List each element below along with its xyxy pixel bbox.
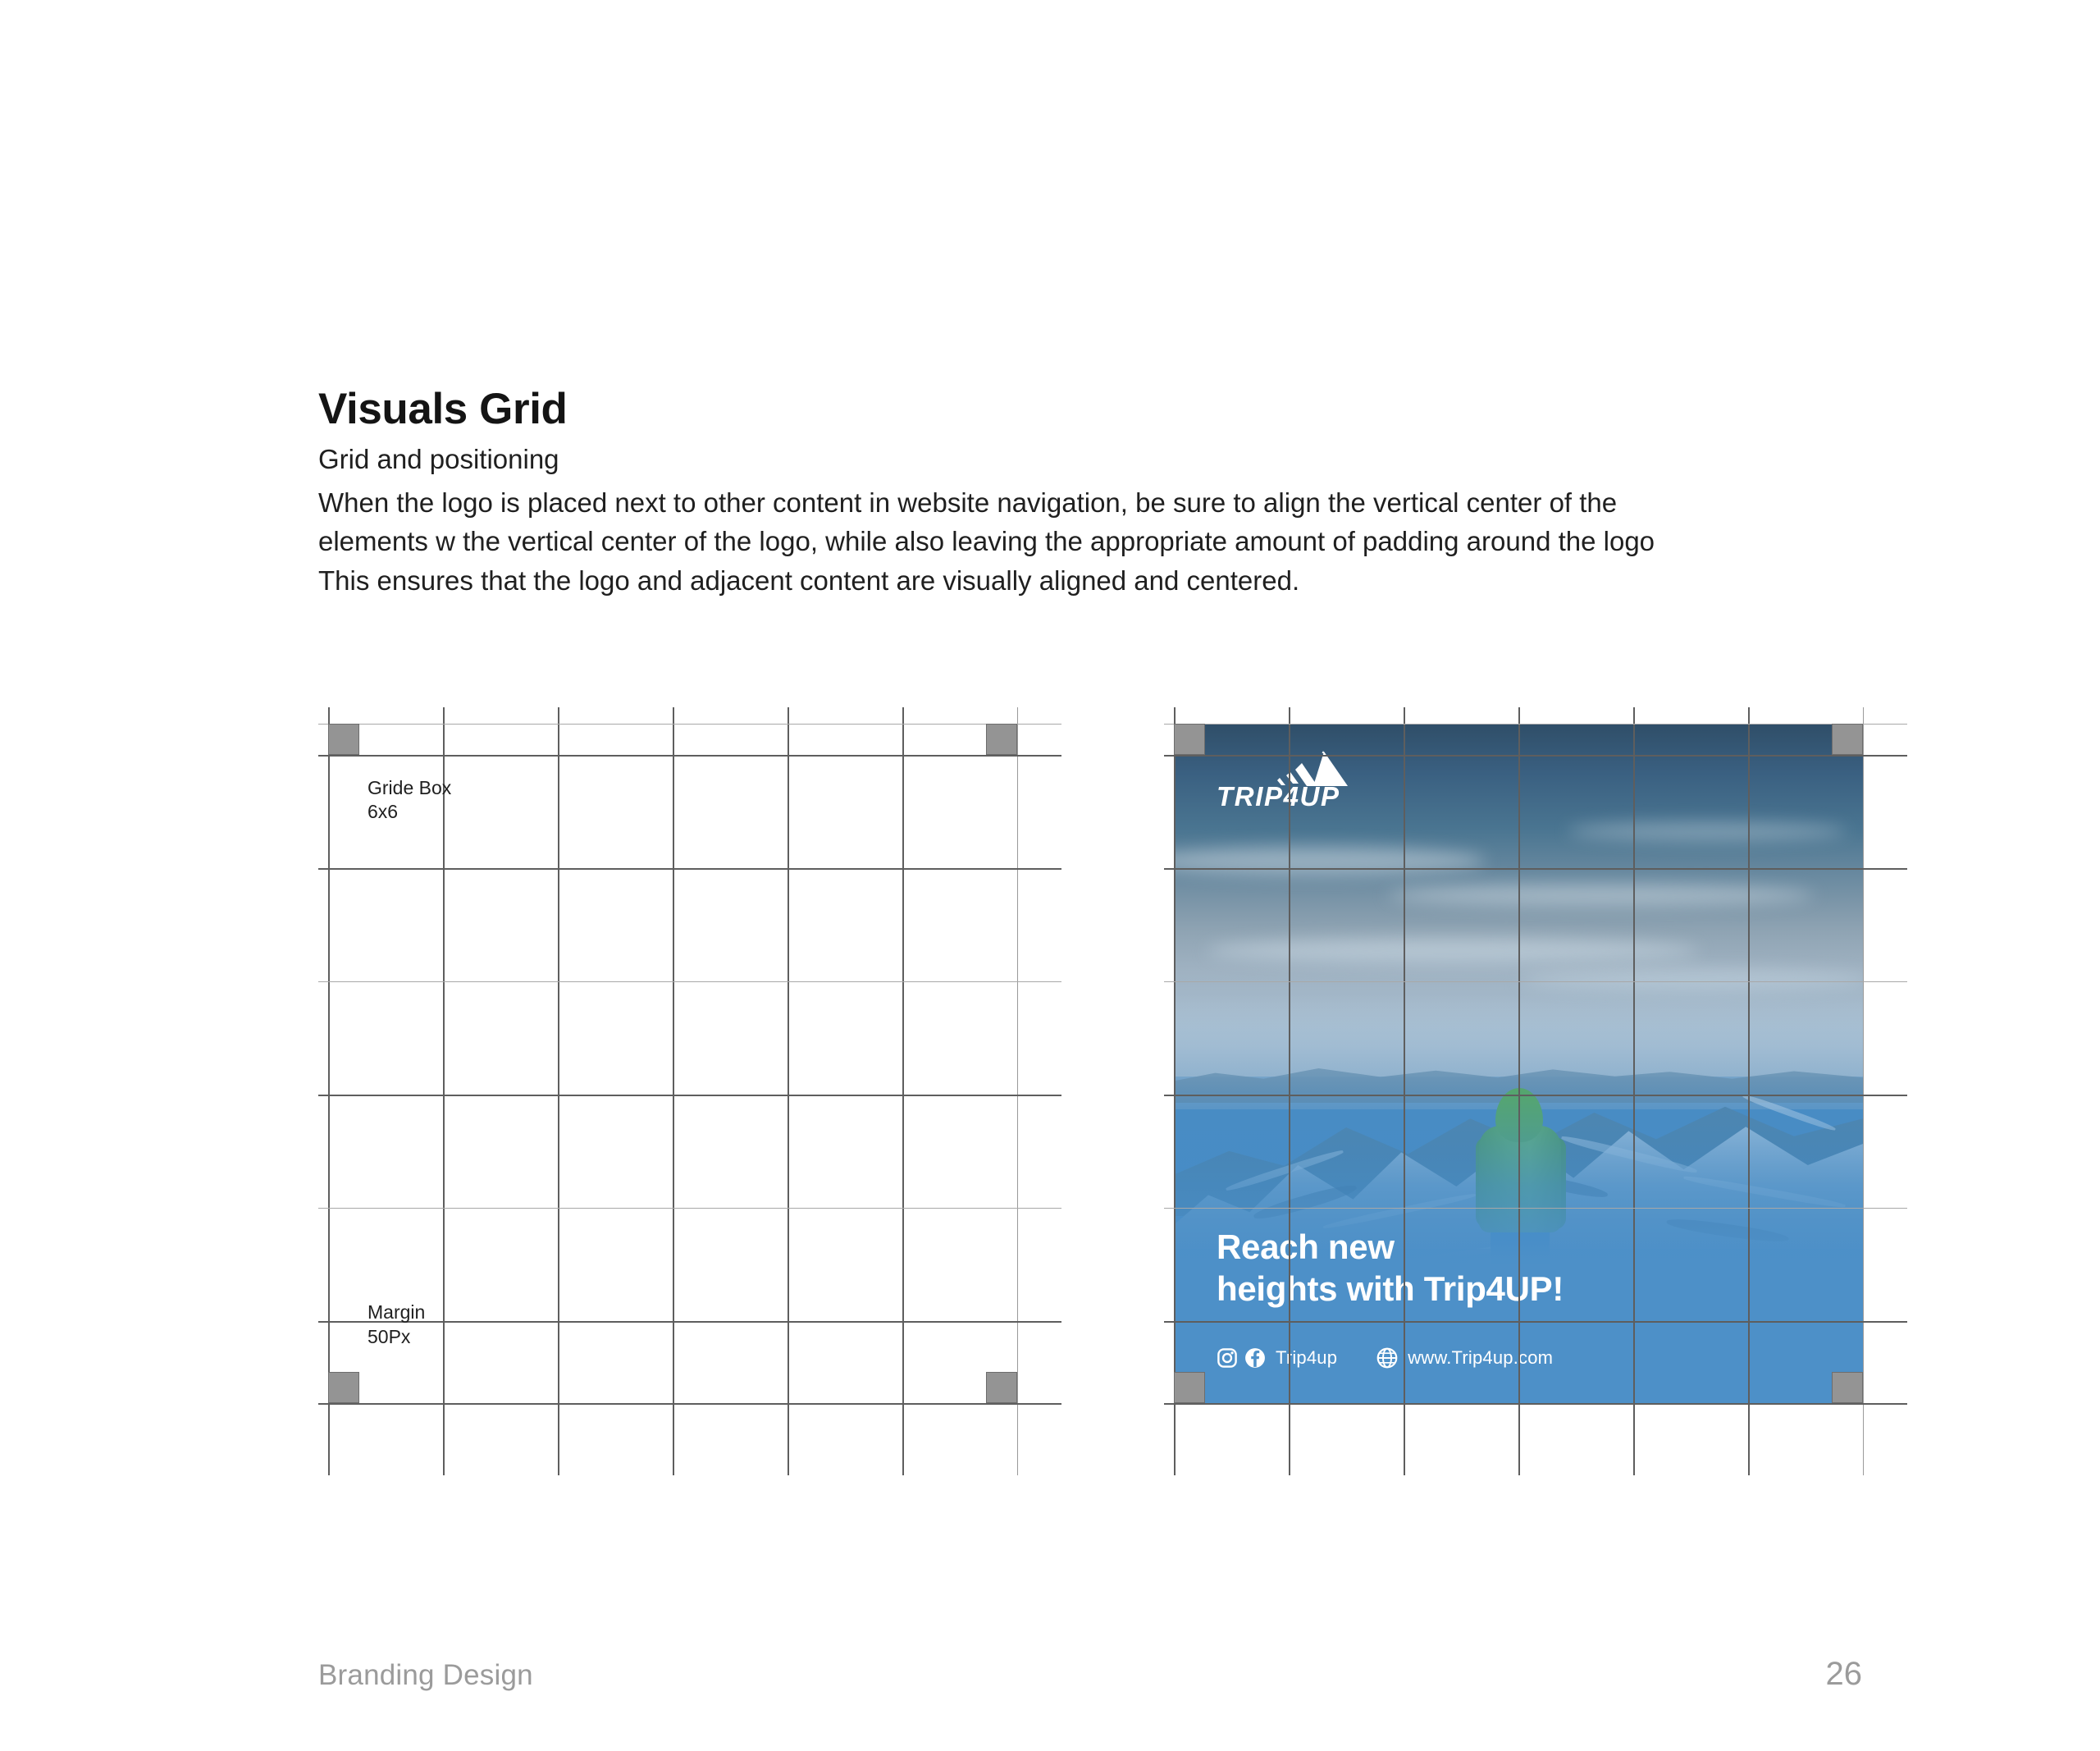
poster-margin-corner-top-right (1832, 724, 1863, 755)
margin-label: Margin 50Px (367, 1301, 425, 1349)
body-line-3: This ensures that the logo and adjacent … (318, 561, 1852, 601)
margin-corner-top-left (328, 724, 359, 755)
poster-margin-corner-bottom-right (1832, 1372, 1863, 1403)
grid-diagram-right: TRIP4UP Reach new heights with Trip4UP! … (1164, 707, 1907, 1475)
page-subtitle: Grid and positioning (318, 441, 1852, 478)
margin-corner-bottom-right (986, 1372, 1017, 1403)
margin-corner-top-right (986, 724, 1017, 755)
poster-grid-hline-7 (1164, 1403, 1907, 1405)
grid-diagram-left: Gride Box 6x6 Margin 50Px (318, 707, 1061, 1475)
footer-section-label: Branding Design (318, 1659, 533, 1692)
page-title: Visuals Grid (318, 386, 1852, 433)
intro-text-block: Visuals Grid Grid and positioning When t… (318, 386, 1852, 600)
poster-grid-box-area (1174, 724, 1863, 1403)
poster-margin-corner-top-left (1174, 724, 1205, 755)
footer-page-number: 26 (1826, 1656, 1863, 1693)
gride-box-label: Gride Box 6x6 (367, 776, 451, 825)
grid-box-area: Gride Box 6x6 Margin 50Px (328, 724, 1017, 1403)
poster-margin-corner-bottom-left (1174, 1372, 1205, 1403)
margin-corner-bottom-left (328, 1372, 359, 1403)
body-line-2: elements w the vertical center of the lo… (318, 522, 1852, 561)
body-line-1: When the logo is placed next to other co… (318, 483, 1852, 523)
grid-vline-6 (1017, 707, 1018, 1475)
grid-hline-7 (318, 1403, 1061, 1405)
poster-grid-vline-6 (1863, 707, 1864, 1475)
